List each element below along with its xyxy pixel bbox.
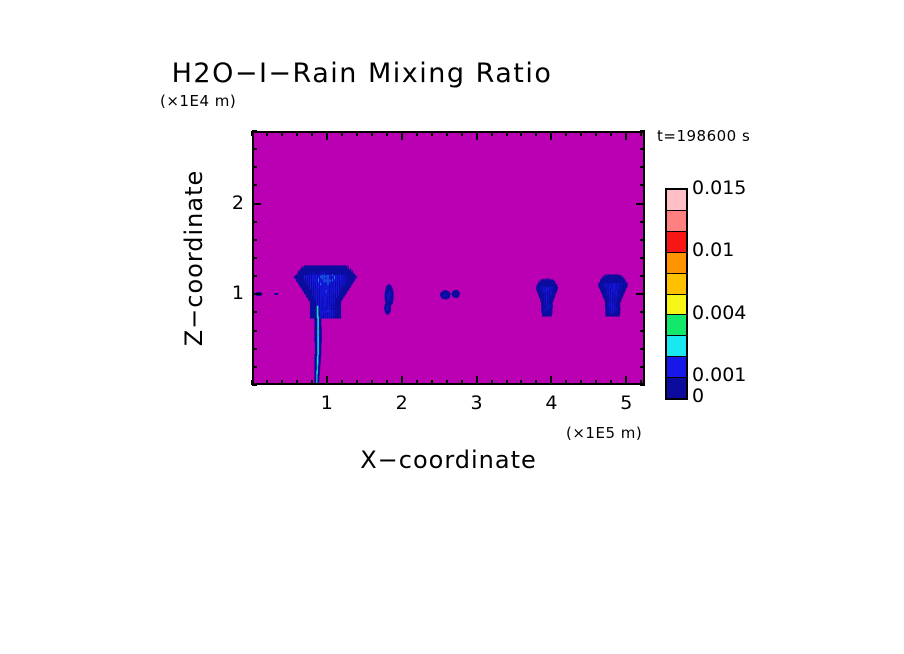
axis-tick [252,221,257,223]
axis-tick [636,293,645,295]
axis-tick [431,131,433,136]
axis-tick [640,184,645,186]
y-axis-tick-label: 2 [222,192,244,214]
axis-tick [461,131,463,136]
axis-tick [252,148,257,150]
axis-tick [281,131,283,136]
colorbar-band [667,336,686,357]
axis-tick [416,380,418,385]
axis-tick [640,330,645,332]
axis-tick [595,380,597,385]
axis-tick [401,376,403,385]
axis-tick [491,131,493,136]
colorbar-band [667,253,686,274]
axis-tick [252,239,257,241]
colorbar-band [667,232,686,253]
axis-tick [520,380,522,385]
axis-tick [580,131,582,136]
axis-tick [356,380,358,385]
axis-tick [326,131,328,140]
axis-tick [281,380,283,385]
axis-tick [252,275,257,277]
axis-tick [252,311,257,313]
axis-tick [252,184,257,186]
page-title: H2O−I−Rain Mixing Ratio [0,58,814,89]
axis-tick [640,366,645,368]
axis-tick [311,131,313,136]
axis-tick [595,131,597,136]
axis-tick [296,131,298,136]
axis-tick [610,131,612,136]
axis-tick [640,221,645,223]
time-annotation: t=198600 s [657,127,750,145]
y-axis-title: Z−coordinate [180,170,208,347]
axis-tick [640,239,645,241]
axis-tick [640,384,645,386]
colorbar-band [667,295,686,316]
colorbar-band [667,378,686,398]
axis-tick [625,131,627,140]
axis-tick [565,131,567,136]
axis-tick [640,166,645,168]
axis-tick [326,376,328,385]
colorbar-band [667,315,686,336]
axis-tick [640,348,645,350]
colorbar [665,188,688,400]
axis-tick [610,380,612,385]
axis-tick [371,131,373,136]
axis-tick [371,380,373,385]
axis-tick [446,380,448,385]
axis-tick [252,203,261,205]
x-axis-tick-label: 2 [387,392,417,414]
colorbar-band [667,274,686,295]
axis-tick [446,131,448,136]
axis-tick [252,166,257,168]
axis-tick [535,380,537,385]
axis-tick [640,311,645,313]
axis-tick [640,148,645,150]
colorbar-tick-label: 0.015 [692,177,746,199]
axis-tick [535,131,537,136]
axis-tick [520,131,522,136]
axis-tick [431,380,433,385]
axis-tick [386,131,388,136]
axis-tick [341,380,343,385]
axis-tick [506,380,508,385]
axis-tick [356,131,358,136]
axis-tick [550,376,552,385]
axis-tick [252,130,257,132]
axis-tick [476,376,478,385]
axis-tick [476,131,478,140]
x-axis-title: X−coordinate [252,446,645,474]
axis-tick [401,131,403,140]
x-axis-tick-label: 3 [462,392,492,414]
axis-tick [461,380,463,385]
colorbar-band [667,190,686,211]
axis-tick [252,384,257,386]
axis-tick [252,330,257,332]
x-axis-tick-label: 4 [536,392,566,414]
axis-tick [266,380,268,385]
axis-tick [506,131,508,136]
axis-tick [640,257,645,259]
colorbar-band [667,211,686,232]
axis-tick [266,131,268,136]
axis-tick [386,380,388,385]
colorbar-band [667,357,686,378]
axis-tick [416,131,418,136]
x-axis-unit-label: (×1E5 m) [566,424,642,442]
axis-tick [252,293,261,295]
x-axis-tick-label: 1 [312,392,342,414]
axis-tick [625,376,627,385]
rain-mixing-ratio-field [254,133,643,383]
axis-tick [252,366,257,368]
colorbar-tick-label: 0 [692,385,704,407]
axis-tick [550,131,552,140]
axis-tick [252,257,257,259]
axis-tick [252,348,257,350]
axis-tick [296,380,298,385]
axis-tick [580,380,582,385]
axis-tick [491,380,493,385]
axis-tick [311,380,313,385]
colorbar-tick-label: 0.001 [692,364,746,386]
axis-tick [640,130,645,132]
axis-tick [636,203,645,205]
colorbar-tick-label: 0.004 [692,302,746,324]
axis-tick [640,275,645,277]
y-axis-unit-label: (×1E4 m) [160,92,236,110]
y-axis-tick-label: 1 [222,282,244,304]
x-axis-tick-label: 5 [611,392,641,414]
plot-area [252,131,645,385]
axis-tick [565,380,567,385]
axis-tick [341,131,343,136]
colorbar-tick-label: 0.01 [692,239,734,261]
